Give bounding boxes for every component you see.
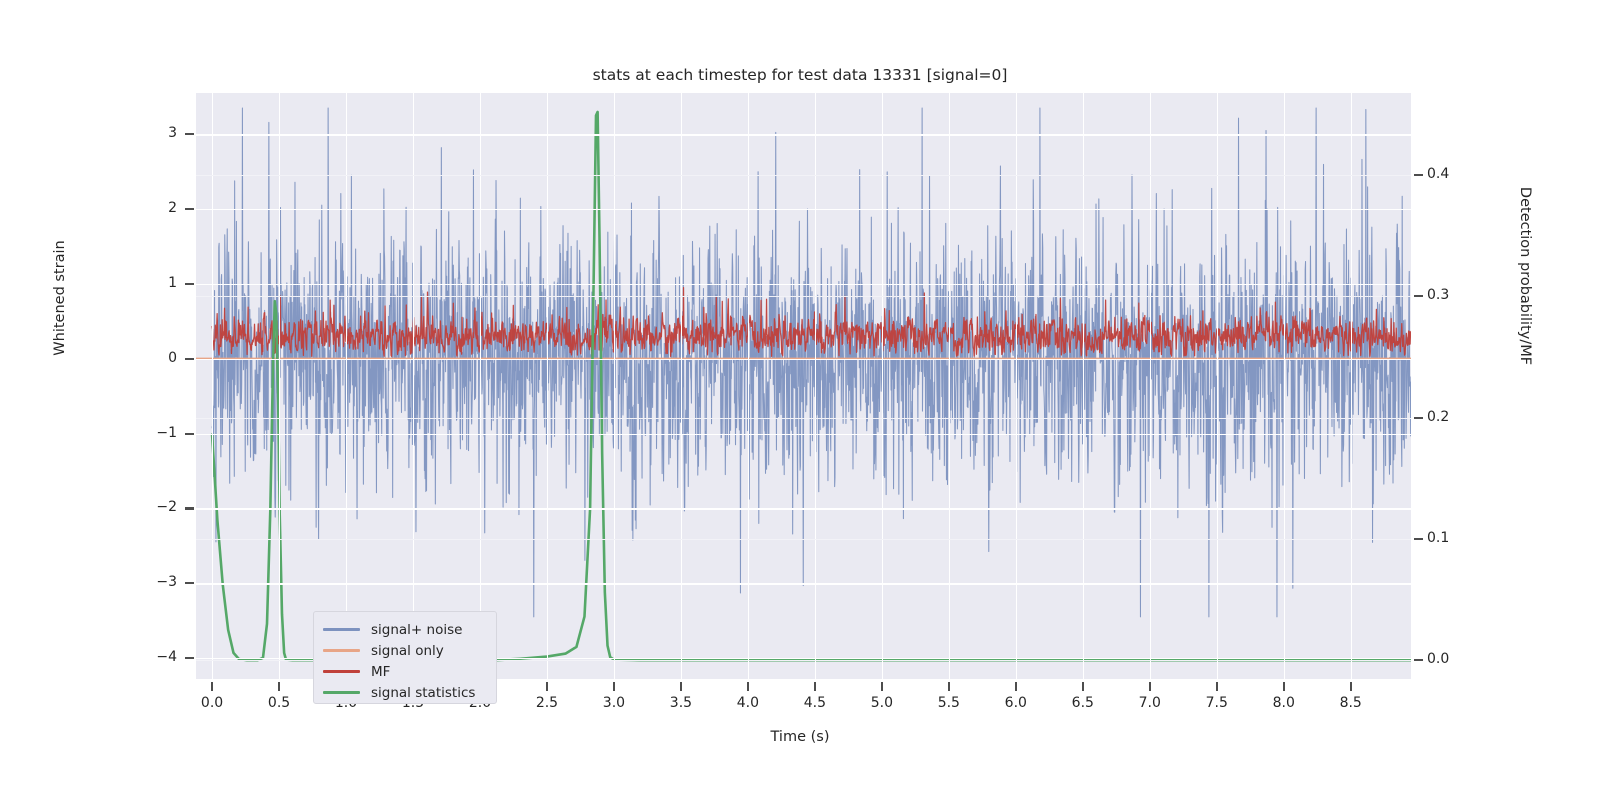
x-tick-label: 4.5 (785, 695, 845, 711)
x-tick-mark (1015, 682, 1017, 691)
gridline-vertical (882, 93, 883, 679)
x-tick-label: 6.0 (986, 695, 1046, 711)
gridline-vertical (681, 93, 682, 679)
y-tick-label-left: 0 (137, 350, 177, 366)
figure: stats at each timestep for test data 133… (0, 0, 1600, 800)
y-tick-mark-right (1414, 174, 1423, 176)
legend-label-mf: MF (371, 664, 390, 680)
plot-area (196, 93, 1411, 679)
y-tick-label-left: −2 (137, 499, 177, 515)
x-tick-label: 5.5 (919, 695, 979, 711)
y-tick-label-left: 3 (137, 125, 177, 141)
y-tick-mark-left (185, 582, 194, 584)
y-axis-label-left: Whitened strain (52, 178, 68, 418)
x-tick-mark (680, 682, 682, 691)
y-tick-label-left: 1 (137, 275, 177, 291)
y-tick-mark-left (185, 208, 194, 210)
gridline-vertical (547, 93, 548, 679)
y-tick-mark-left (185, 433, 194, 435)
chart-title: stats at each timestep for test data 133… (0, 66, 1600, 84)
x-tick-mark (211, 682, 213, 691)
gridline-vertical (1083, 93, 1084, 679)
gridline-horizontal (196, 284, 1411, 285)
legend-label-signal-only: signal only (371, 643, 444, 659)
y-tick-mark-left (185, 507, 194, 509)
x-tick-label: 3.0 (584, 695, 644, 711)
x-tick-mark (1283, 682, 1285, 691)
x-axis-label: Time (s) (0, 729, 1600, 745)
gridline-horizontal (196, 508, 1411, 509)
gridline-horizontal-right (196, 296, 1411, 297)
gridline-horizontal (196, 134, 1411, 135)
y-tick-label-right: 0.0 (1427, 651, 1477, 667)
y-tick-label-left: −4 (137, 649, 177, 665)
data-traces (196, 93, 1411, 679)
x-tick-label: 6.5 (1053, 695, 1113, 711)
x-tick-label: 8.0 (1254, 695, 1314, 711)
gridline-horizontal (196, 209, 1411, 210)
y-tick-label-left: −1 (137, 425, 177, 441)
gridline-vertical (413, 93, 414, 679)
gridline-vertical (1217, 93, 1218, 679)
gridline-horizontal-right (196, 175, 1411, 176)
gridline-vertical (949, 93, 950, 679)
y-tick-label-left: −3 (137, 574, 177, 590)
legend-swatch-signal-statistics (323, 691, 360, 694)
legend-item: signal statistics (323, 682, 487, 703)
gridline-horizontal-right (196, 539, 1411, 540)
legend-item: signal only (323, 640, 487, 661)
x-tick-label: 2.5 (517, 695, 577, 711)
x-tick-mark (814, 682, 816, 691)
y-tick-mark-left (185, 133, 194, 135)
y-tick-mark-right (1414, 417, 1423, 419)
legend-label-signal-statistics: signal statistics (371, 685, 475, 701)
gridline-horizontal (196, 583, 1411, 584)
gridline-vertical (1284, 93, 1285, 679)
legend-label-signal-noise: signal+ noise (371, 622, 462, 638)
gridline-vertical (815, 93, 816, 679)
x-tick-label: 0.5 (249, 695, 309, 711)
y-tick-label-left: 2 (137, 200, 177, 216)
y-tick-mark-right (1414, 295, 1423, 297)
x-tick-mark (1216, 682, 1218, 691)
x-tick-mark (1082, 682, 1084, 691)
x-tick-label: 0.0 (182, 695, 242, 711)
legend: signal+ noise signal only MF signal stat… (313, 611, 497, 704)
x-tick-label: 7.5 (1187, 695, 1247, 711)
y-tick-label-right: 0.3 (1427, 287, 1477, 303)
x-tick-label: 7.0 (1120, 695, 1180, 711)
y-tick-label-right: 0.1 (1427, 530, 1477, 546)
x-tick-mark (613, 682, 615, 691)
y-tick-label-right: 0.2 (1427, 409, 1477, 425)
gridline-vertical (1016, 93, 1017, 679)
x-tick-label: 3.5 (651, 695, 711, 711)
gridline-vertical (279, 93, 280, 679)
gridline-vertical (346, 93, 347, 679)
x-tick-mark (747, 682, 749, 691)
x-tick-mark (278, 682, 280, 691)
x-tick-mark (1350, 682, 1352, 691)
x-tick-mark (546, 682, 548, 691)
legend-swatch-signal-noise (323, 628, 360, 631)
x-tick-label: 8.5 (1321, 695, 1381, 711)
gridline-horizontal (196, 434, 1411, 435)
y-tick-mark-right (1414, 538, 1423, 540)
gridline-vertical (1150, 93, 1151, 679)
x-tick-label: 5.0 (852, 695, 912, 711)
y-tick-label-right: 0.4 (1427, 166, 1477, 182)
trace-signal-plus-noise (212, 108, 1411, 617)
gridline-vertical (748, 93, 749, 679)
gridline-vertical (614, 93, 615, 679)
gridline-vertical (480, 93, 481, 679)
gridline-vertical (212, 93, 213, 679)
gridline-horizontal (196, 359, 1411, 360)
legend-item: signal+ noise (323, 619, 487, 640)
y-tick-mark-left (185, 657, 194, 659)
gridline-horizontal-right (196, 418, 1411, 419)
legend-item: MF (323, 661, 487, 682)
legend-swatch-mf (323, 670, 360, 673)
x-tick-label: 4.0 (718, 695, 778, 711)
gridline-vertical (1351, 93, 1352, 679)
x-tick-mark (881, 682, 883, 691)
y-tick-mark-left (185, 283, 194, 285)
legend-swatch-signal-only (323, 649, 360, 652)
x-tick-mark (1149, 682, 1151, 691)
y-tick-mark-right (1414, 659, 1423, 661)
y-tick-mark-left (185, 358, 194, 360)
x-tick-mark (948, 682, 950, 691)
y-axis-label-right: Detection probability/MF (1517, 146, 1533, 406)
